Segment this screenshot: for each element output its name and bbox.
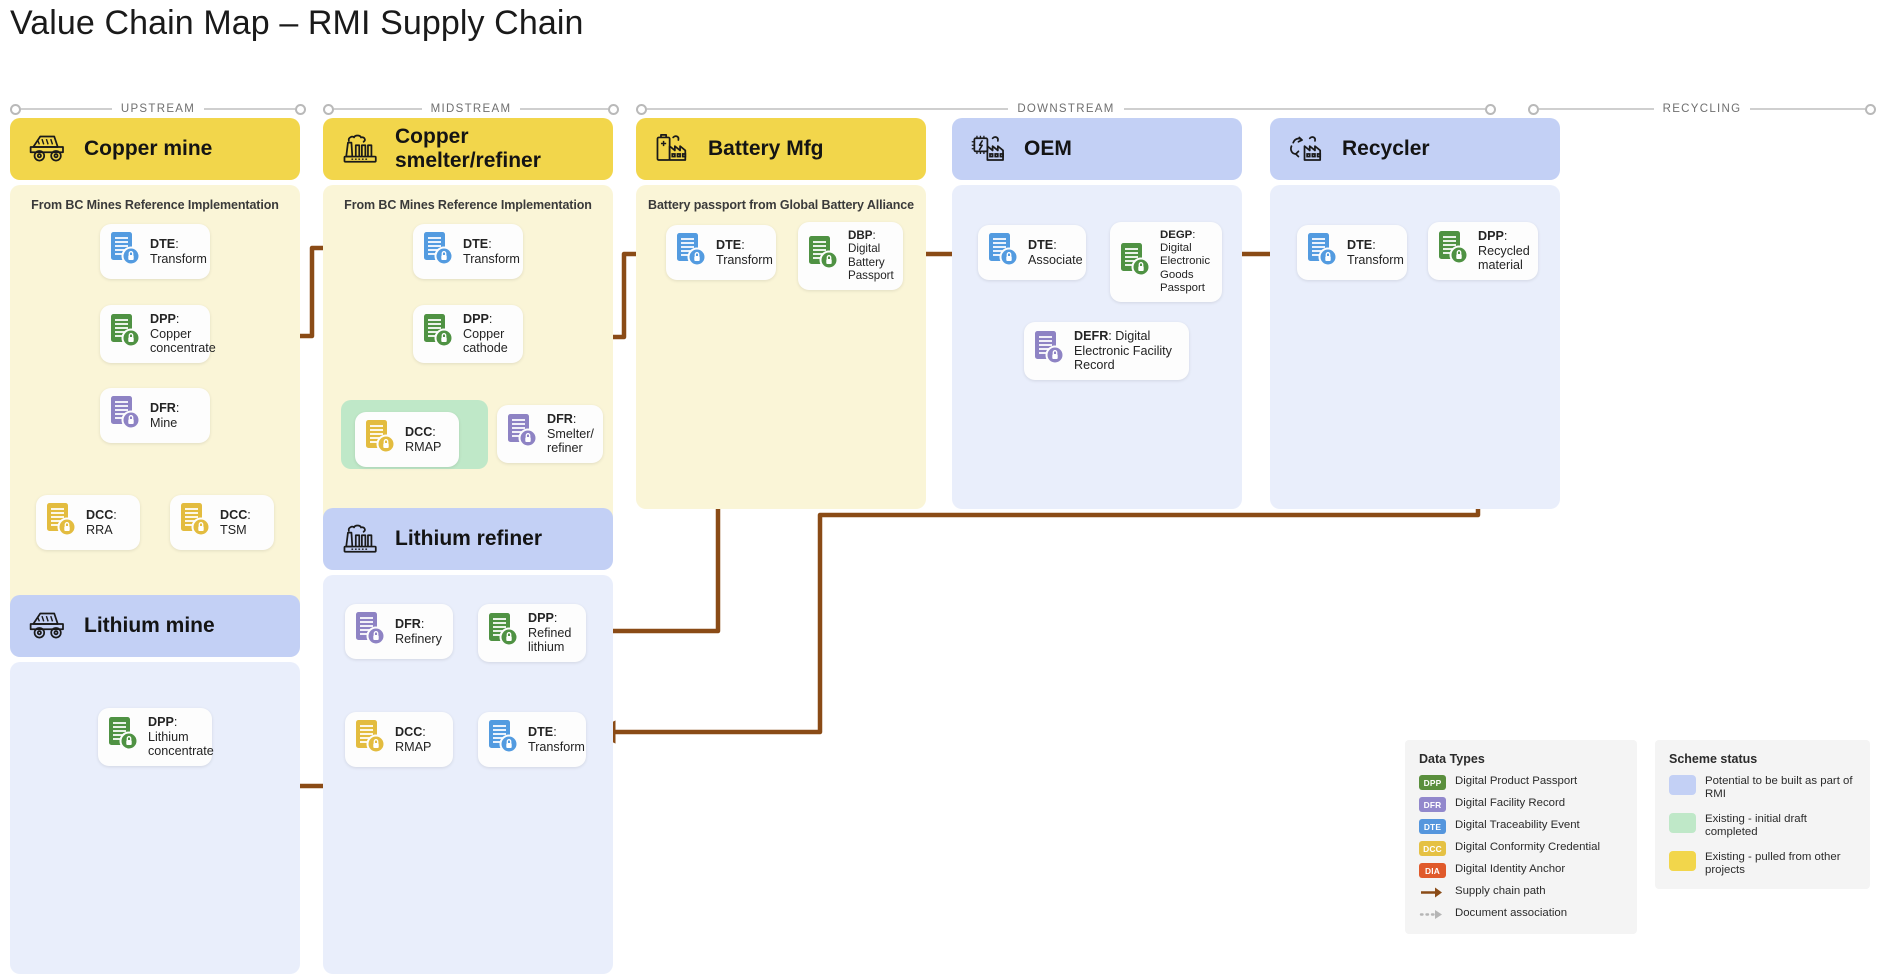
node-chip-dpp-copper-concentrate[interactable]: DPP: Copper concentrate [100, 305, 210, 363]
legend-label: Digital Conformity Credential [1455, 841, 1600, 854]
phase-rail-upstream: UPSTREAM [10, 100, 306, 118]
node-label: DTE: Associate [1028, 238, 1083, 267]
actor-header-lithium-refiner: Lithium refiner [323, 508, 613, 570]
node-chip-dfr-mine[interactable]: DFR: Mine [100, 388, 210, 443]
dpp-document-icon [1118, 242, 1152, 283]
legend-label: Existing - pulled from other projects [1705, 851, 1856, 878]
node-chip-dcc-rra[interactable]: DCC: RRA [36, 495, 140, 550]
node-label: DCC: RRA [86, 508, 128, 537]
node-label: DPP: Refined lithium [528, 611, 574, 655]
node-chip-dfr-refinery[interactable]: DFR: Refinery [345, 604, 453, 659]
rail-start-dot [636, 104, 647, 115]
dotted-arrow-icon [1419, 907, 1446, 922]
actor-header-copper-smelter: Copper smelter/refiner [323, 118, 613, 180]
rail-end-dot [1865, 104, 1876, 115]
node-chip-dte-transform-smelter[interactable]: DTE: Transform [413, 224, 523, 279]
dfr-document-icon [353, 611, 387, 652]
actor-title: Copper mine [84, 137, 212, 161]
phase-label-upstream: UPSTREAM [112, 103, 204, 115]
node-chip-dte-transform-battery[interactable]: DTE: Transform [666, 225, 776, 280]
phase-label-recycling: RECYCLING [1654, 103, 1751, 115]
node-chip-dte-transform-lithium[interactable]: DTE: Transform [478, 712, 586, 767]
node-chip-defr-facility-record[interactable]: DEFR: Digital Electronic Facility Record [1024, 322, 1189, 380]
dcc-document-icon [44, 502, 78, 543]
node-chip-dfr-smelter-refiner[interactable]: DFR: Smelter/ refiner [497, 405, 603, 463]
node-label: DTE: Transform [150, 237, 207, 266]
actor-card-lithium-mine[interactable]: Lithium mine [10, 595, 300, 974]
node-label: DEFR: Digital Electronic Facility Record [1074, 329, 1177, 373]
node-label: DFR: Smelter/ refiner [547, 412, 594, 456]
legend-item-dte: DTE Digital Traceability Event [1419, 819, 1623, 834]
node-label: DTE: Transform [716, 238, 773, 267]
actor-title: OEM [1024, 137, 1072, 161]
dte-document-icon [486, 719, 520, 760]
node-label: DPP: Recycled material [1478, 229, 1530, 273]
dfr-document-icon [1032, 330, 1066, 371]
dpp-document-icon [421, 313, 455, 354]
legend-scheme-status: Scheme status Potential to be built as p… [1655, 740, 1870, 889]
dfr-badge: DFR [1419, 797, 1446, 812]
rail-line [647, 108, 1008, 110]
actor-note: From BC Mines Reference Implementation [323, 185, 613, 212]
legend-label: Supply chain path [1455, 885, 1546, 898]
rail-line [334, 108, 422, 110]
phase-rail-midstream: MIDSTREAM [323, 100, 619, 118]
node-label: DBP: Digital Battery Passport [848, 229, 894, 283]
dpp-document-icon [806, 235, 840, 276]
dte-document-icon [1305, 232, 1339, 273]
rail-start-dot [1528, 104, 1539, 115]
mining-truck-icon [28, 131, 70, 168]
node-label: DCC: RMAP [405, 425, 447, 454]
node-label: DCC: TSM [220, 508, 262, 537]
battery-factory-icon [654, 130, 694, 169]
legend-title: Scheme status [1669, 752, 1856, 766]
actor-title: Battery Mfg [708, 137, 824, 161]
rail-end-dot [1485, 104, 1496, 115]
phase-rail-downstream: DOWNSTREAM [636, 100, 1496, 118]
node-chip-dpp-recycled-material[interactable]: DPP: Recycled material [1428, 222, 1538, 280]
legend-label: Existing - initial draft completed [1705, 813, 1856, 840]
legend-item-dcc: DCC Digital Conformity Credential [1419, 841, 1623, 856]
legend-label: Digital Facility Record [1455, 797, 1565, 810]
legend-item-dpp: DPP Digital Product Passport [1419, 775, 1623, 790]
node-label: DCC: RMAP [395, 725, 441, 754]
legend-data-types: Data Types DPP Digital Product Passport … [1405, 740, 1637, 934]
rail-start-dot [323, 104, 334, 115]
node-chip-dte-associate[interactable]: DTE: Associate [978, 225, 1086, 280]
actor-title: Copper smelter/refiner [395, 125, 595, 173]
legend-label: Document association [1455, 907, 1567, 920]
dte-document-icon [674, 232, 708, 273]
phase-label-midstream: MIDSTREAM [422, 103, 521, 115]
rail-line [204, 108, 295, 110]
legend-item-potential-rmi: Potential to be built as part of RMI [1669, 775, 1856, 802]
dte-badge: DTE [1419, 819, 1446, 834]
legend-title: Data Types [1419, 752, 1623, 766]
legend-item-existing-pulled: Existing - pulled from other projects [1669, 851, 1856, 878]
node-chip-degp-goods-passport[interactable]: DEGP: Digital Electronic Goods Passport [1110, 222, 1222, 302]
solid-arrow-icon [1419, 885, 1446, 900]
rail-line [1750, 108, 1865, 110]
node-label: DEGP: Digital Electronic Goods Passport [1160, 229, 1210, 295]
smelter-factory-icon [341, 520, 381, 559]
dte-document-icon [986, 232, 1020, 273]
page-title: Value Chain Map – RMI Supply Chain [10, 4, 584, 43]
node-label: DPP: Copper cathode [463, 312, 511, 356]
legend-label: Digital Identity Anchor [1455, 863, 1565, 876]
actor-card-battery-mfg[interactable]: Battery Mfg Battery passport from Global… [636, 118, 926, 509]
dcc-document-icon [353, 719, 387, 760]
dpp-document-icon [1436, 230, 1470, 271]
phase-rail-recycling: RECYCLING [1528, 100, 1876, 118]
legend-item-dia: DIA Digital Identity Anchor [1419, 863, 1623, 878]
node-chip-dpp-lithium-concentrate[interactable]: DPP: Lithium concentrate [98, 708, 212, 766]
actor-title: Lithium mine [84, 614, 215, 638]
node-chip-dte-transform-recycler[interactable]: DTE: Transform [1297, 225, 1407, 280]
rail-line [520, 108, 608, 110]
rail-start-dot [10, 104, 21, 115]
node-label: DTE: Transform [1347, 238, 1404, 267]
dcc-document-icon [178, 502, 212, 543]
dia-badge: DIA [1419, 863, 1446, 878]
dpp-document-icon [108, 313, 142, 354]
node-label: DFR: Mine [150, 401, 198, 430]
rail-line [21, 108, 112, 110]
node-label: DTE: Transform [463, 237, 520, 266]
legend-label: Potential to be built as part of RMI [1705, 775, 1856, 802]
actor-header-oem: OEM [952, 118, 1242, 180]
status-swatch-green [1669, 813, 1696, 833]
node-chip-dte-transform[interactable]: DTE: Transform [100, 224, 210, 279]
node-label: DTE: Transform [528, 725, 585, 754]
rail-line [1124, 108, 1485, 110]
smelter-factory-icon [341, 130, 381, 169]
node-chip-dcc-rmap-lithium[interactable]: DCC: RMAP [345, 712, 453, 767]
rail-line [1539, 108, 1654, 110]
dpp-badge: DPP [1419, 775, 1446, 790]
dcc-document-icon [363, 419, 397, 460]
actor-header-lithium-mine: Lithium mine [10, 595, 300, 657]
dpp-document-icon [106, 716, 140, 757]
legend-label: Digital Traceability Event [1455, 819, 1580, 832]
actor-header-copper-mine: Copper mine [10, 118, 300, 180]
dfr-document-icon [108, 395, 142, 436]
node-label: DFR: Refinery [395, 617, 442, 646]
legend-item-dfr: DFR Digital Facility Record [1419, 797, 1623, 812]
dpp-document-icon [486, 612, 520, 653]
actor-card-recycler[interactable]: Recycler [1270, 118, 1560, 509]
recycling-factory-icon [1288, 130, 1328, 169]
dte-document-icon [108, 231, 142, 272]
mining-truck-icon [28, 608, 70, 645]
node-chip-dcc-rmap-smelter[interactable]: DCC: RMAP [355, 412, 459, 467]
node-label: DPP: Lithium concentrate [148, 715, 214, 759]
legend-item-supply-chain-path: Supply chain path [1419, 885, 1623, 900]
node-chip-dpp-copper-cathode[interactable]: DPP: Copper cathode [413, 305, 523, 363]
actor-card-oem[interactable]: OEM [952, 118, 1242, 509]
actor-title: Recycler [1342, 137, 1430, 161]
actor-note: From BC Mines Reference Implementation [10, 185, 300, 212]
actor-header-recycler: Recycler [1270, 118, 1560, 180]
node-chip-dcc-tsm[interactable]: DCC: TSM [170, 495, 274, 550]
status-swatch-yellow [1669, 851, 1696, 871]
legend-item-document-association: Document association [1419, 907, 1623, 922]
rail-end-dot [295, 104, 306, 115]
chip-factory-icon [970, 130, 1010, 169]
dte-document-icon [421, 231, 455, 272]
dcc-badge: DCC [1419, 841, 1446, 856]
legend-label: Digital Product Passport [1455, 775, 1577, 788]
actor-title: Lithium refiner [395, 527, 542, 551]
node-label: DPP: Copper concentrate [150, 312, 216, 356]
actor-note: Battery passport from Global Battery All… [636, 185, 926, 212]
legend-item-existing-draft: Existing - initial draft completed [1669, 813, 1856, 840]
status-swatch-blue [1669, 775, 1696, 795]
node-chip-dbp-battery-passport[interactable]: DBP: Digital Battery Passport [798, 222, 903, 290]
rail-end-dot [608, 104, 619, 115]
actor-card-copper-mine[interactable]: Copper mine From BC Mines Reference Impl… [10, 118, 300, 627]
dfr-document-icon [505, 413, 539, 454]
actor-header-battery-mfg: Battery Mfg [636, 118, 926, 180]
phase-label-downstream: DOWNSTREAM [1008, 103, 1123, 115]
node-chip-dpp-refined-lithium[interactable]: DPP: Refined lithium [478, 604, 586, 662]
